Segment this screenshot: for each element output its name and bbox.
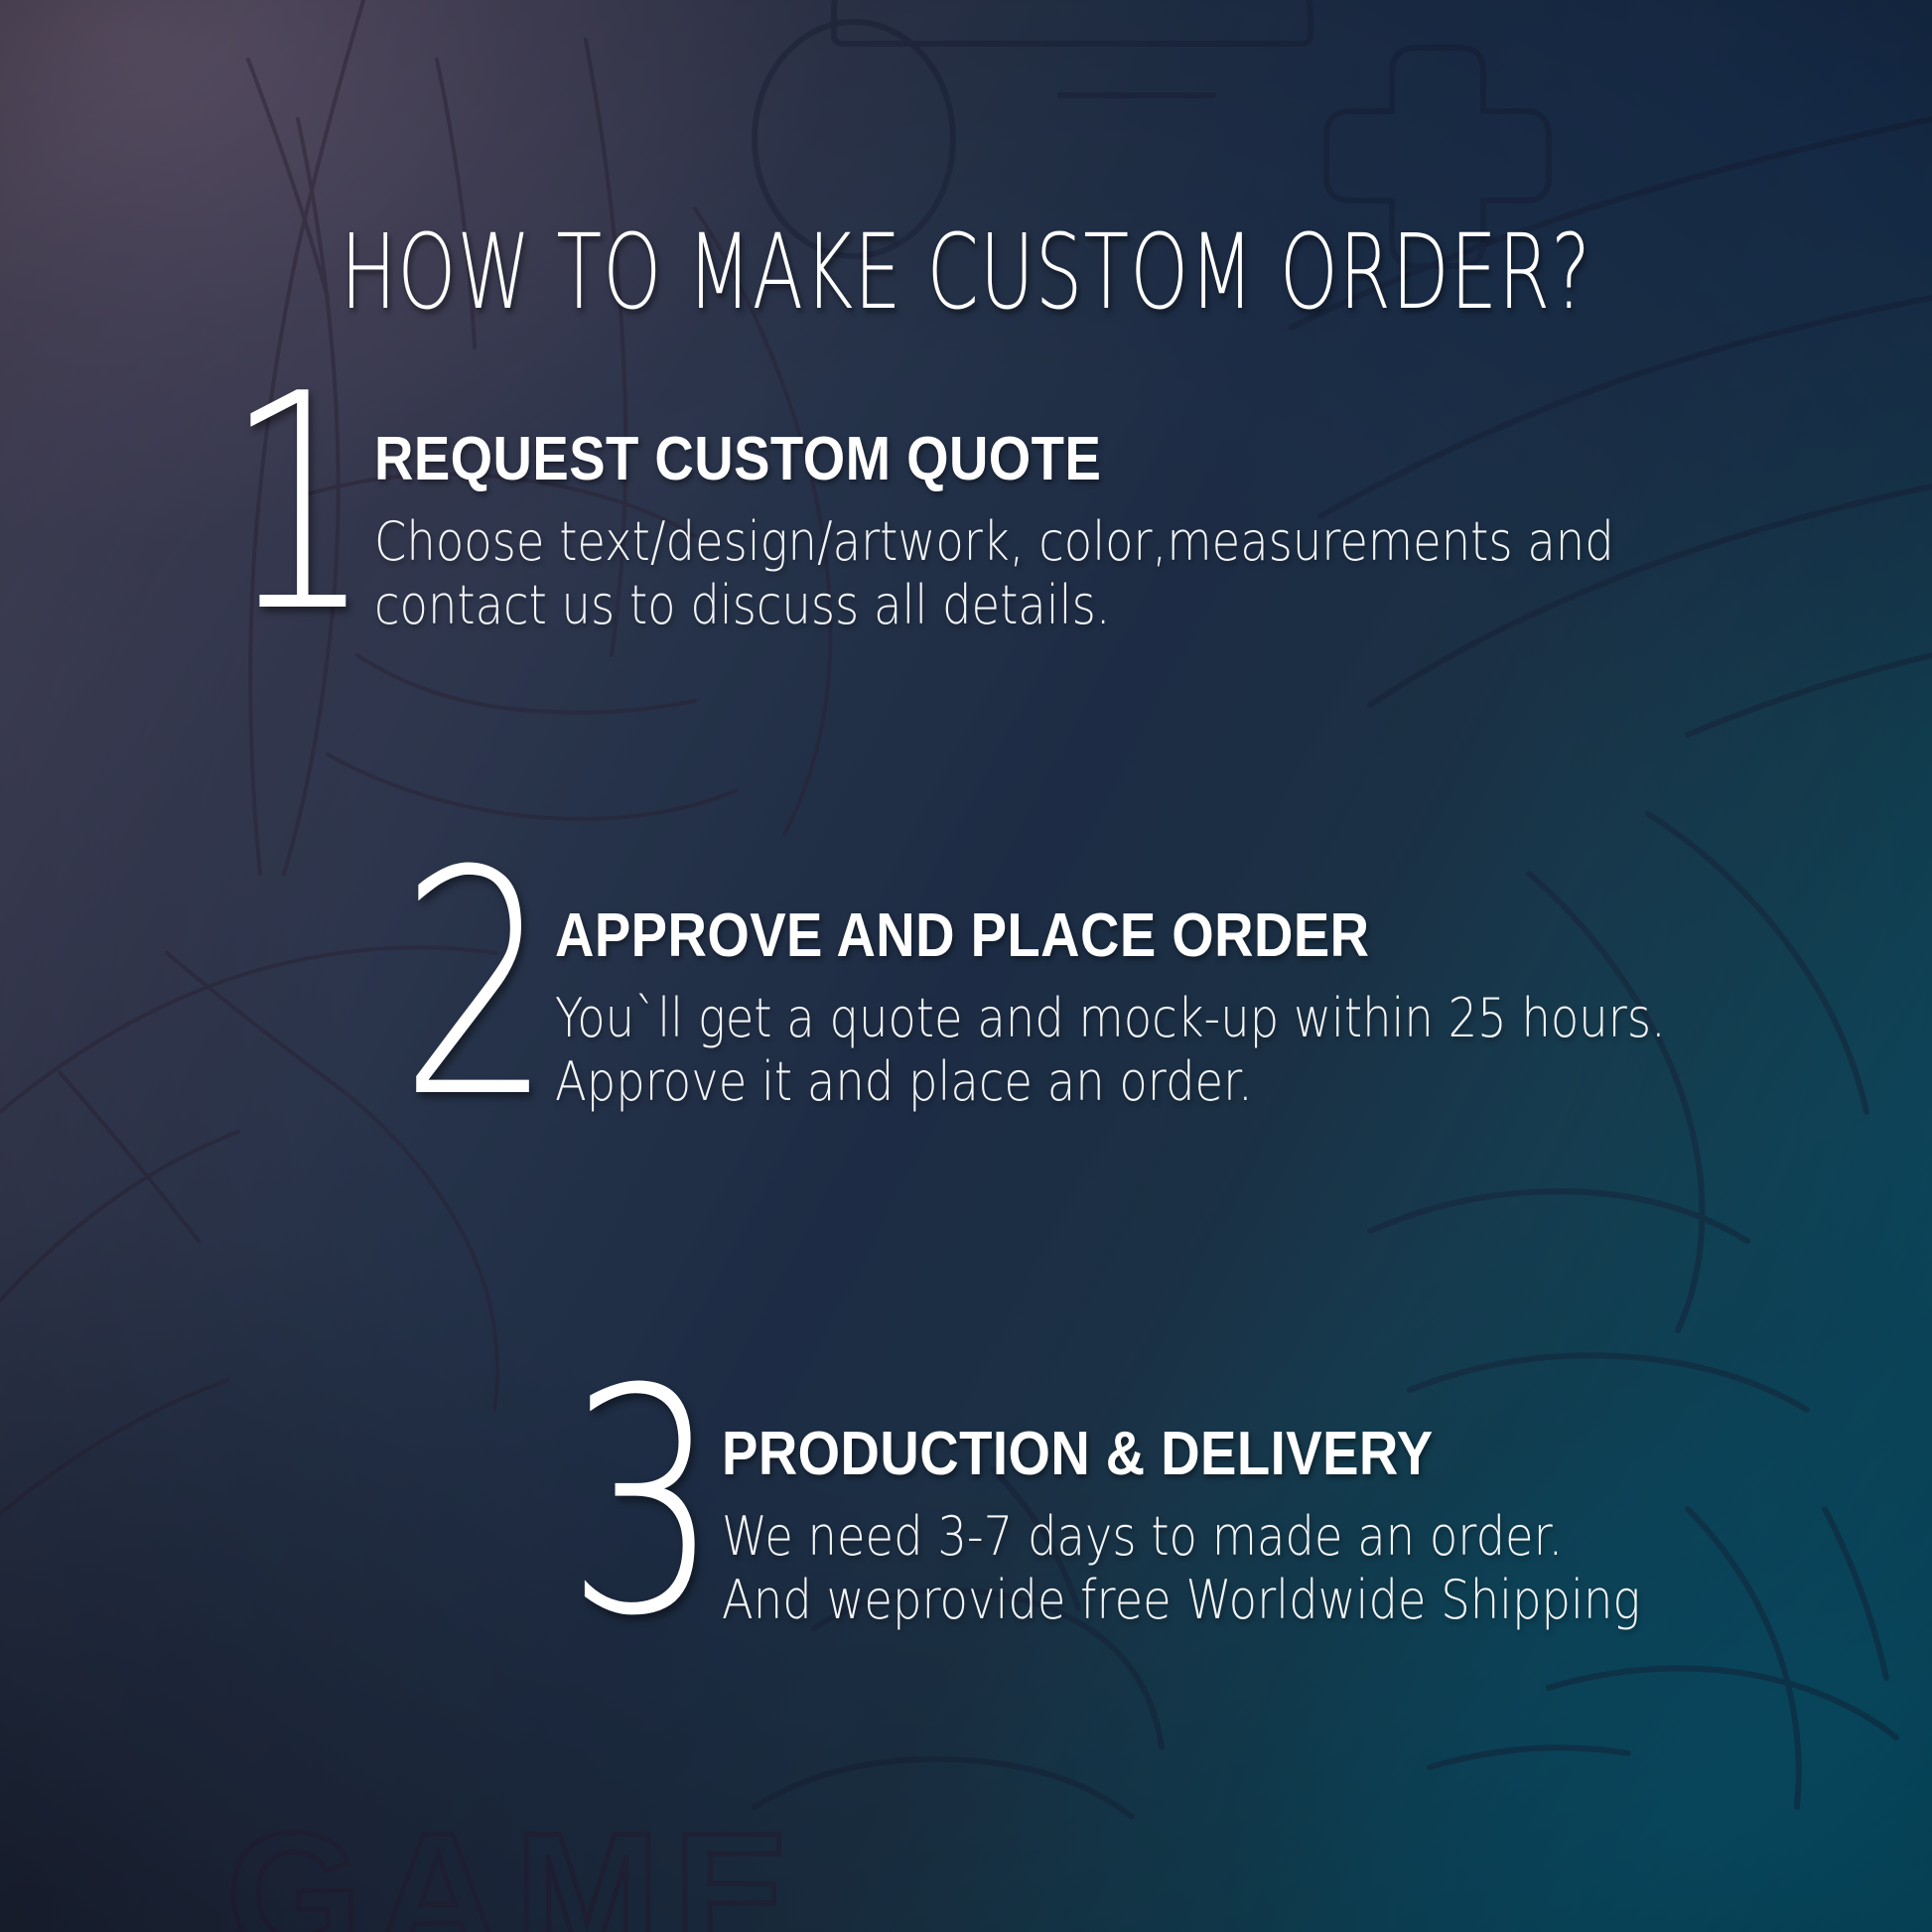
step-description-3: We need 3-7 days to made an order. And w… (722, 1505, 1640, 1631)
step-body-1: REQUEST CUSTOM QUOTE Choose text/design/… (374, 415, 1816, 636)
step-body-3: PRODUCTION & DELIVERY We need 3-7 days t… (722, 1410, 1790, 1631)
step-description-line: You`ll get a quote and mock-up within 25… (555, 987, 1666, 1050)
poster-canvas: GAME HOW TO MAKE CUSTOM ORDER? 1 REQUEST… (0, 0, 1932, 1932)
page-title: HOW TO MAKE CUSTOM ORDER? (270, 220, 1661, 324)
step-heading-2: APPROVE AND PLACE ORDER (555, 905, 1692, 967)
step-number-1: 1 (225, 397, 368, 612)
step-heading-3: PRODUCTION & DELIVERY (722, 1424, 1662, 1485)
step-body-2: APPROVE AND PLACE ORDER You`ll get a quo… (555, 892, 1847, 1113)
step-item-2: 2 APPROVE AND PLACE ORDER You`ll get a q… (357, 892, 1846, 1113)
step-item-1: 1 REQUEST CUSTOM QUOTE Choose text/desig… (185, 415, 1816, 636)
step-description-line: contact us to discuss all details. (374, 574, 1614, 637)
step-description-line: And weprovide free Worldwide Shipping (722, 1569, 1640, 1632)
poster-content: HOW TO MAKE CUSTOM ORDER? 1 REQUEST CUST… (0, 0, 1932, 1932)
step-description-line: We need 3-7 days to made an order. (722, 1505, 1640, 1569)
step-description-line: Approve it and place an order. (555, 1050, 1666, 1114)
step-number-2: 2 (399, 874, 548, 1097)
step-description-1: Choose text/design/artwork, color,measur… (374, 510, 1614, 636)
step-description-2: You`ll get a quote and mock-up within 25… (555, 987, 1666, 1113)
step-description-line: Choose text/design/artwork, color,measur… (374, 510, 1614, 574)
step-heading-1: REQUEST CUSTOM QUOTE (374, 429, 1643, 490)
step-item-3: 3 PRODUCTION & DELIVERY We need 3-7 days… (524, 1410, 1789, 1631)
step-number-3: 3 (566, 1392, 715, 1615)
